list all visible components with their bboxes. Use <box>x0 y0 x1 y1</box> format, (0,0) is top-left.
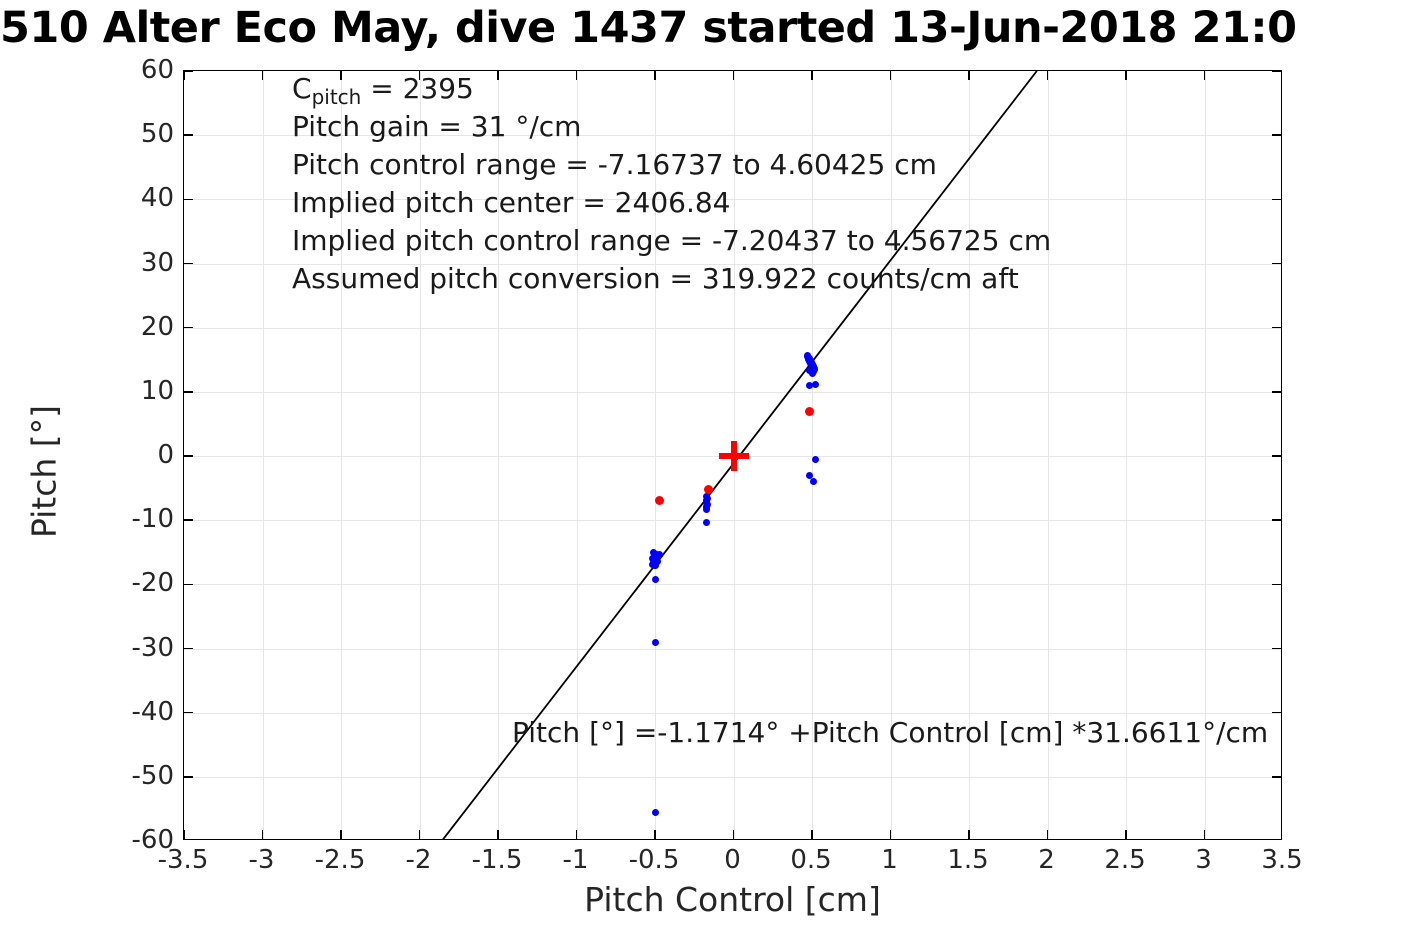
x-tick-mark <box>890 71 891 80</box>
x-tick-label: -3 <box>217 845 307 875</box>
data-point-rejected <box>704 485 713 494</box>
x-tick-label: -1 <box>531 845 621 875</box>
y-tick-label: 60 <box>94 55 174 85</box>
y-tick-mark <box>184 391 193 392</box>
y-tick-mark <box>184 134 193 135</box>
y-axis-title: Pitch [°] <box>25 192 64 752</box>
x-tick-mark <box>968 71 969 80</box>
y-tick-label: -10 <box>94 504 174 534</box>
y-tick-label: 0 <box>94 440 174 470</box>
y-tick-mark <box>184 455 193 456</box>
x-tick-label: -1.5 <box>452 845 542 875</box>
x-axis-title: Pitch Control [cm] <box>183 880 1282 919</box>
y-tick-label: -20 <box>94 568 174 598</box>
x-tick-mark <box>262 71 263 80</box>
x-tick-mark <box>733 71 734 80</box>
y-tick-mark <box>1272 70 1281 71</box>
y-tick-mark <box>1272 134 1281 135</box>
x-tick-label: 1.5 <box>923 845 1013 875</box>
x-tick-mark <box>654 71 655 80</box>
x-tick-mark <box>1204 71 1205 80</box>
data-point-accepted <box>654 558 661 565</box>
y-tick-label: -60 <box>94 825 174 855</box>
chart-figure: 510 Alter Eco May, dive 1437 started 13-… <box>0 0 1417 945</box>
y-tick-mark <box>1272 648 1281 649</box>
y-tick-mark <box>1272 712 1281 713</box>
y-tick-label: -40 <box>94 697 174 727</box>
x-tick-mark <box>419 71 420 80</box>
y-tick-label: 40 <box>94 183 174 213</box>
x-tick-mark <box>576 830 577 839</box>
x-tick-mark <box>968 830 969 839</box>
data-point-accepted <box>812 381 819 388</box>
x-tick-label: 0.5 <box>766 845 856 875</box>
x-tick-mark <box>811 830 812 839</box>
data-point-accepted <box>652 576 659 583</box>
x-tick-mark <box>183 71 184 80</box>
x-tick-mark <box>340 830 341 839</box>
y-tick-mark <box>184 263 193 264</box>
x-tick-mark <box>1047 71 1048 80</box>
y-tick-mark <box>184 519 193 520</box>
y-tick-mark <box>184 776 193 777</box>
x-tick-mark <box>890 830 891 839</box>
center-cross-vertical <box>731 441 737 471</box>
y-tick-mark <box>184 327 193 328</box>
x-tick-mark <box>576 71 577 80</box>
x-tick-label: -2.5 <box>295 845 385 875</box>
x-tick-mark <box>1125 830 1126 839</box>
y-tick-mark <box>1272 391 1281 392</box>
x-tick-mark <box>497 830 498 839</box>
data-point-accepted <box>703 519 710 526</box>
y-tick-mark <box>1272 199 1281 200</box>
data-point-accepted <box>704 495 711 502</box>
x-tick-mark <box>497 71 498 80</box>
x-tick-label: 0 <box>688 845 778 875</box>
y-tick-label: -50 <box>94 761 174 791</box>
x-tick-label: -2 <box>374 845 464 875</box>
y-tick-mark <box>1272 519 1281 520</box>
x-tick-mark <box>1125 71 1126 80</box>
y-tick-mark <box>184 584 193 585</box>
y-tick-mark <box>1272 455 1281 456</box>
x-tick-mark <box>1047 830 1048 839</box>
x-tick-mark <box>811 71 812 80</box>
x-tick-label: 1 <box>845 845 935 875</box>
x-tick-mark <box>419 830 420 839</box>
x-tick-mark <box>1204 830 1205 839</box>
x-tick-label: 3.5 <box>1237 845 1327 875</box>
page-title: 510 Alter Eco May, dive 1437 started 13-… <box>0 2 1417 58</box>
y-tick-mark <box>184 199 193 200</box>
x-tick-mark <box>654 830 655 839</box>
x-tick-mark <box>340 71 341 80</box>
plot-area <box>183 70 1282 840</box>
data-point-accepted <box>812 456 819 463</box>
y-tick-mark <box>1272 263 1281 264</box>
data-point-accepted <box>652 809 659 816</box>
x-tick-label: 2 <box>1002 845 1092 875</box>
y-tick-label: 10 <box>94 376 174 406</box>
x-tick-label: 2.5 <box>1080 845 1170 875</box>
x-tick-mark <box>183 830 184 839</box>
y-tick-mark <box>184 70 193 71</box>
y-tick-label: -30 <box>94 633 174 663</box>
y-tick-mark <box>184 712 193 713</box>
y-tick-mark <box>1272 776 1281 777</box>
x-tick-label: -0.5 <box>609 845 699 875</box>
y-tick-label: 20 <box>94 312 174 342</box>
y-tick-label: 50 <box>94 119 174 149</box>
x-tick-label: 3 <box>1159 845 1249 875</box>
x-tick-mark <box>262 830 263 839</box>
y-tick-label: 30 <box>94 248 174 278</box>
y-tick-mark <box>1272 584 1281 585</box>
x-tick-mark <box>733 830 734 839</box>
data-point-accepted <box>652 639 659 646</box>
y-tick-mark <box>1272 327 1281 328</box>
y-tick-mark <box>184 648 193 649</box>
